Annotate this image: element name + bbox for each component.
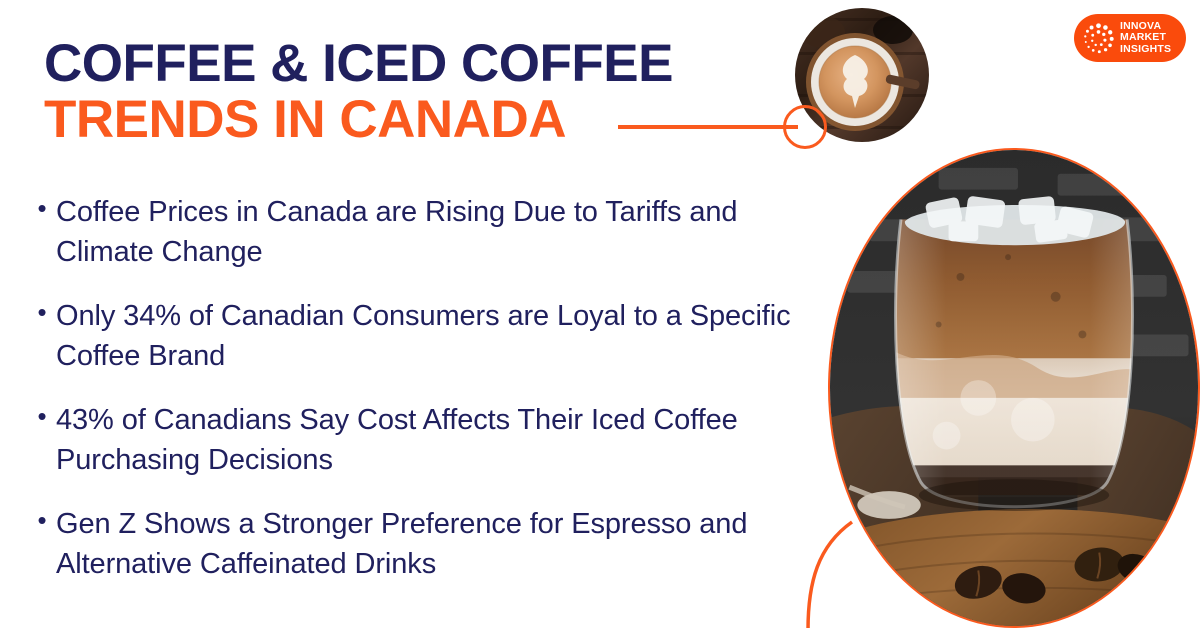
key-trends-list: • Coffee Prices in Canada are Rising Due…	[28, 192, 828, 584]
list-item: • Gen Z Shows a Stronger Preference for …	[28, 504, 828, 584]
logo-line-2: MARKET	[1120, 31, 1166, 43]
logo-line-1: INNOVA	[1120, 20, 1161, 32]
logo-wordmark: INNOVA MARKET INSIGHTS	[1120, 21, 1171, 56]
innova-market-insights-logo[interactable]: INNOVA MARKET INSIGHTS	[1074, 14, 1186, 62]
logo-line-3: INSIGHTS	[1120, 43, 1171, 55]
bullet-marker-icon: •	[28, 400, 56, 432]
orange-ring-accent	[783, 105, 827, 149]
list-item-text: 43% of Canadians Say Cost Affects Their …	[56, 400, 826, 480]
dotted-ring-icon	[1082, 22, 1115, 55]
bullet-marker-icon: •	[28, 504, 56, 536]
iced-latte-glass-photo	[828, 148, 1200, 628]
list-item: • Coffee Prices in Canada are Rising Due…	[28, 192, 828, 272]
title-line-primary: COFFEE & ICED COFFEE	[44, 36, 673, 92]
list-item: • 43% of Canadians Say Cost Affects Thei…	[28, 400, 828, 480]
list-item-text: Gen Z Shows a Stronger Preference for Es…	[56, 504, 826, 584]
list-item-text: Only 34% of Canadian Consumers are Loyal…	[56, 296, 826, 376]
bullet-marker-icon: •	[28, 192, 56, 224]
list-item-text: Coffee Prices in Canada are Rising Due t…	[56, 192, 826, 272]
list-item: • Only 34% of Canadian Consumers are Loy…	[28, 296, 828, 376]
bullet-marker-icon: •	[28, 296, 56, 328]
title-line-secondary: TRENDS IN CANADA	[44, 92, 673, 148]
page-title: COFFEE & ICED COFFEE TRENDS IN CANADA	[44, 36, 673, 148]
